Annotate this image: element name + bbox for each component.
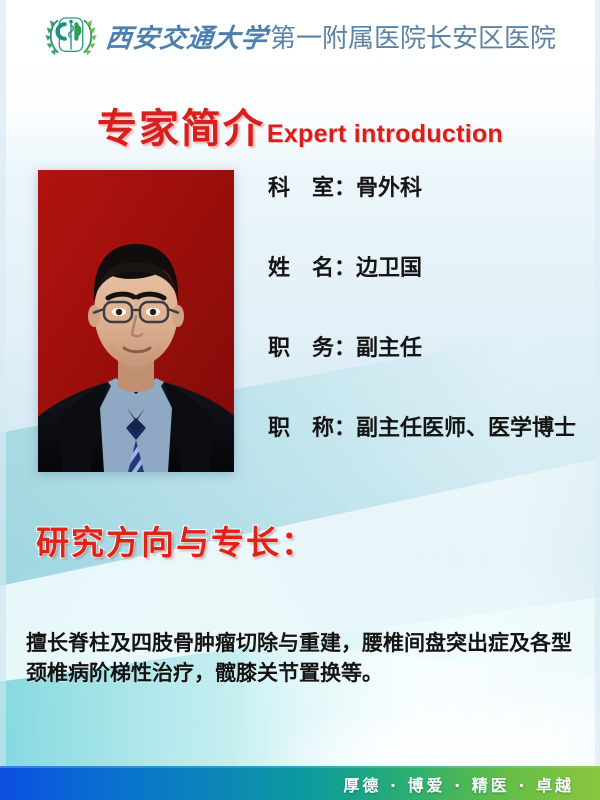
page-title-cn: 专家简介 xyxy=(97,106,265,152)
footer-slogan: 厚德 · 博爱 · 精医 · 卓越 xyxy=(343,772,574,796)
expert-info-list: 科 室： 骨外科 姓 名： 边卫国 职 务： 副主任 职 称： 副主任医师、医学… xyxy=(268,170,598,490)
info-row-department: 科 室： 骨外科 xyxy=(268,170,598,250)
info-value-department: 骨外科 xyxy=(356,170,422,202)
info-label-title: 职 称： xyxy=(268,410,356,442)
brand-hospital-name: 第一附属医院长安区医院 xyxy=(270,18,556,55)
hospital-caduceus-laurel-emblem-icon xyxy=(44,10,98,62)
page-title-en: Expert introduction xyxy=(267,120,503,148)
info-value-name: 边卫国 xyxy=(356,250,422,282)
info-label-position: 职 务： xyxy=(268,330,356,362)
info-row-title: 职 称： 副主任医师、医学博士 xyxy=(268,410,598,490)
info-value-position: 副主任 xyxy=(356,330,422,362)
poster-footer: 厚德 · 博爱 · 精医 · 卓越 xyxy=(0,768,600,800)
brand: 西安交通大学 第一附属医院长安区医院 xyxy=(106,18,556,55)
brand-university-name: 西安交通大学 xyxy=(104,18,270,55)
research-body-text: 擅长脊柱及四肢骨肿瘤切除与重建，腰椎间盘突出症及各型颈椎病阶梯性治疗，髋膝关节置… xyxy=(26,628,578,689)
info-row-position: 职 务： 副主任 xyxy=(268,330,598,410)
info-label-name: 姓 名： xyxy=(268,250,356,282)
expert-profile-poster: 西安交通大学 第一附属医院长安区医院 专家简介Expert introducti… xyxy=(0,0,600,800)
expert-portrait-photo xyxy=(38,170,234,472)
page-title: 专家简介Expert introduction xyxy=(0,96,600,154)
research-section-heading: 研究方向与专长： xyxy=(36,516,316,564)
info-value-title: 副主任医师、医学博士 xyxy=(356,410,576,442)
info-row-name: 姓 名： 边卫国 xyxy=(268,250,598,330)
poster-header: 西安交通大学 第一附属医院长安区医院 xyxy=(0,0,600,72)
info-label-department: 科 室： xyxy=(268,170,356,202)
